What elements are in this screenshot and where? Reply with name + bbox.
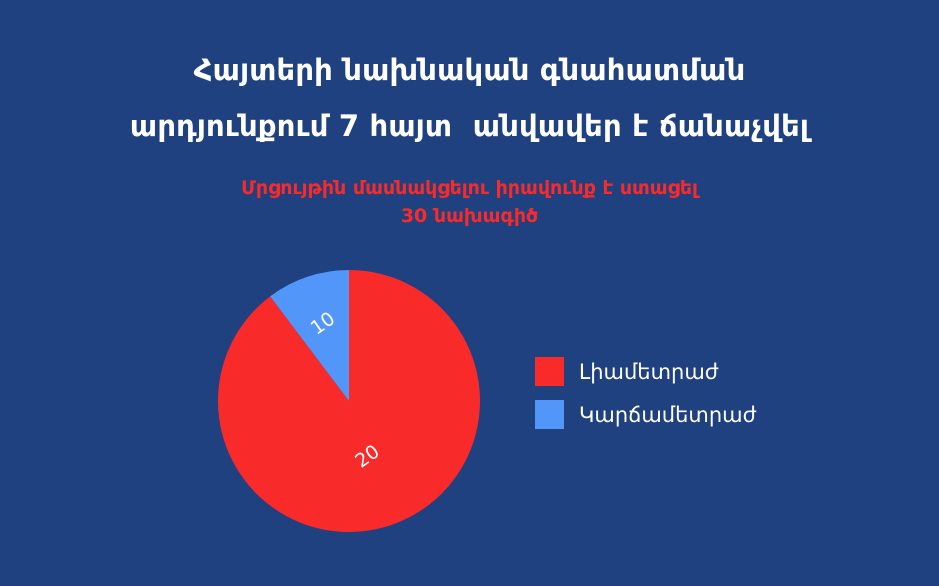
legend-label-short-length: Կարճամետրաժ — [579, 403, 756, 427]
title-line-1: Հայտերի նախնական գնահատման — [0, 42, 939, 98]
subtitle-line-2: 30 նախագիծ — [0, 202, 939, 230]
legend-swatch-full-length-icon — [535, 357, 564, 386]
chart-legend: Լիամետրաժ Կարճամետրաժ — [535, 350, 895, 436]
page-title: Հայտերի նախնական գնահատման արդյունքում 7… — [0, 42, 939, 154]
slide-canvas: Հայտերի նախնական գնահատման արդյունքում 7… — [0, 0, 939, 586]
pie-chart: 20 10 — [218, 270, 480, 532]
page-subtitle: Մրցույթին մասնակցելու իրավունք է ստացել … — [0, 174, 939, 230]
legend-item-short-length[interactable]: Կարճամետրաժ — [535, 393, 895, 436]
legend-swatch-short-length-icon — [535, 400, 564, 429]
legend-label-full-length: Լիամետրաժ — [579, 360, 719, 384]
pie-chart-svg: 20 10 — [218, 270, 480, 532]
subtitle-line-1: Մրցույթին մասնակցելու իրավունք է ստացել — [0, 174, 939, 202]
legend-item-full-length[interactable]: Լիամետրաժ — [535, 350, 895, 393]
chart-area: 20 10 Լիամետրաժ Կարճամետրաժ — [0, 250, 939, 570]
title-line-2: արդյունքում 7 հայտ անվավեր է ճանաչվել — [0, 98, 939, 154]
